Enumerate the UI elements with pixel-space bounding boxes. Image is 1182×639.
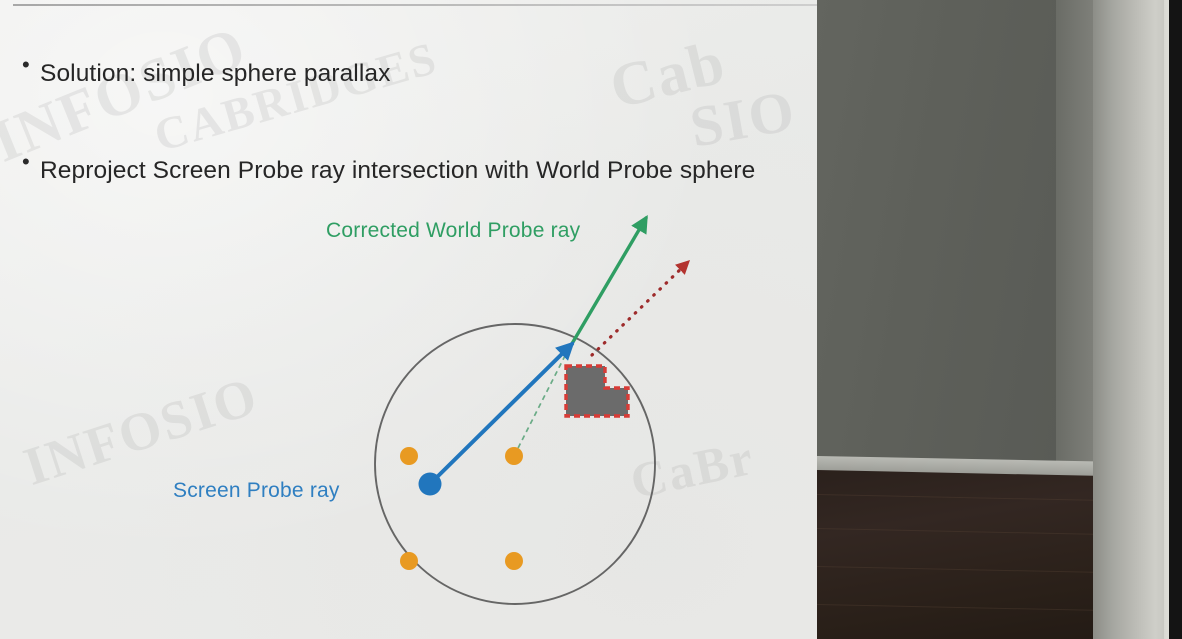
world-probe-dot bbox=[400, 552, 418, 570]
video-right-edge bbox=[1169, 0, 1182, 639]
world-probe-dot bbox=[505, 552, 523, 570]
sphere-parallax-diagram bbox=[0, 0, 817, 639]
corrected-world-probe-ray-label: Corrected World Probe ray bbox=[326, 219, 580, 243]
screen-probe-ray bbox=[430, 344, 572, 484]
world-probe-dot bbox=[505, 447, 523, 465]
room-wall-shadow bbox=[817, 0, 1056, 474]
screen-share-view: INFOSIO CABRIDGES Cab INFOSIO CaBr SIO •… bbox=[0, 0, 1182, 639]
presentation-slide: INFOSIO CABRIDGES Cab INFOSIO CaBr SIO •… bbox=[0, 0, 817, 639]
world-probe-center-to-intersection-dashed bbox=[514, 344, 571, 456]
occluder-geometry bbox=[566, 366, 628, 416]
screen-probe-ray-label: Screen Probe ray bbox=[173, 479, 340, 503]
incorrect-world-probe-ray bbox=[592, 262, 688, 355]
screen-probe-origin-dot bbox=[419, 473, 442, 496]
webcam-video-feed bbox=[817, 0, 1182, 639]
room-curtain bbox=[1093, 0, 1171, 639]
world-probe-dot bbox=[400, 447, 418, 465]
room-wood-floor bbox=[817, 470, 1117, 639]
corrected-world-probe-ray bbox=[570, 218, 646, 347]
